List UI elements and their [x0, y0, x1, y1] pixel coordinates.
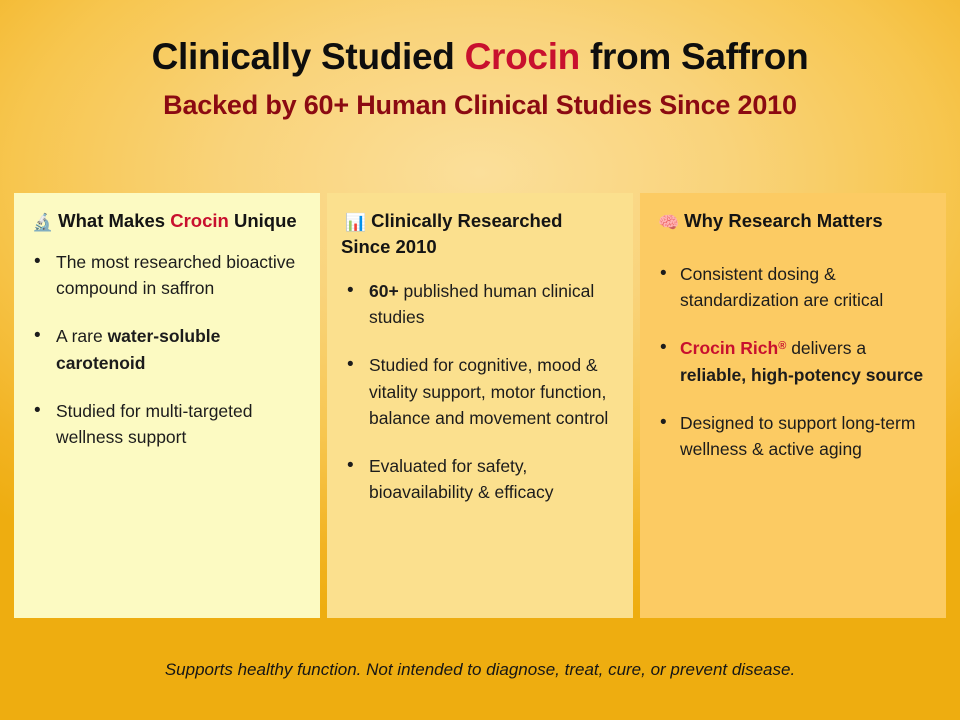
card-3-heading-text: Why Research Matters [684, 210, 882, 231]
title-accent-word: Crocin [465, 36, 580, 77]
card-1-heading-accent: Crocin [170, 210, 229, 231]
bullet-text: The most researched bioactive compound i… [56, 252, 295, 298]
list-item: A rare water-soluble carotenoid [28, 323, 302, 376]
page-subtitle: Backed by 60+ Human Clinical Studies Sin… [0, 89, 960, 121]
title-text-trailing: from Saffron [580, 36, 808, 77]
footer: Supports healthy function. Not intended … [0, 660, 960, 680]
list-item: Designed to support long-term wellness &… [654, 410, 928, 463]
bullet-text: Evaluated for safety, bioavailability & … [369, 456, 554, 502]
card-clinically-researched-since-2010: 📊Clinically Researched Since 2010 60+ pu… [327, 193, 633, 618]
card-1-heading-text-trailing: Unique [229, 210, 297, 231]
card-2-heading: 📊Clinically Researched Since 2010 [341, 209, 615, 260]
list-item: The most researched bioactive compound i… [28, 249, 302, 302]
card-3-heading: 🧠Why Research Matters [654, 209, 928, 235]
bar-chart-icon: 📊 [345, 213, 366, 232]
disclaimer-text: Supports healthy function. Not intended … [0, 660, 960, 680]
bullet-text: Studied for cognitive, mood & vitality s… [369, 355, 608, 428]
list-item: Consistent dosing & standardization are … [654, 261, 928, 314]
card-2-bullet-list: 60+ published human clinical studies Stu… [341, 278, 615, 506]
list-item: 60+ published human clinical studies [341, 278, 615, 331]
card-1-heading-text-leading: What Makes [58, 210, 170, 231]
bullet-text: A rare [56, 326, 108, 346]
bullet-text: Studied for multi-targeted wellness supp… [56, 401, 253, 447]
bullet-text: Designed to support long-term wellness &… [680, 413, 915, 459]
page-title: Clinically Studied Crocin from Saffron [0, 36, 960, 79]
list-item: Evaluated for safety, bioavailability & … [341, 453, 615, 506]
title-text-leading: Clinically Studied [152, 36, 465, 77]
microscope-icon: 🔬 [32, 213, 53, 232]
bullet-text: Consistent dosing & standardization are … [680, 264, 883, 310]
list-item: Studied for cognitive, mood & vitality s… [341, 352, 615, 431]
card-what-makes-crocin-unique: 🔬What Makes Crocin Unique The most resea… [14, 193, 320, 618]
bullet-bold-text: 60+ [369, 281, 399, 301]
infographic-slide: Clinically Studied Crocin from Saffron B… [0, 0, 960, 720]
bullet-text: delivers a [786, 338, 866, 358]
cards-row: 🔬What Makes Crocin Unique The most resea… [14, 193, 946, 618]
card-1-bullet-list: The most researched bioactive compound i… [28, 249, 302, 451]
list-item: Crocin Rich® delivers a reliable, high-p… [654, 335, 928, 388]
bullet-bold-text: reliable, high-potency source [680, 365, 923, 385]
card-2-heading-text: Clinically Researched Since 2010 [341, 210, 562, 257]
bullet-text: published human clinical studies [369, 281, 594, 327]
brain-icon: 🧠 [658, 213, 679, 232]
header: Clinically Studied Crocin from Saffron B… [0, 0, 960, 121]
card-3-bullet-list: Consistent dosing & standardization are … [654, 261, 928, 463]
card-why-research-matters: 🧠Why Research Matters Consistent dosing … [640, 193, 946, 618]
card-1-heading: 🔬What Makes Crocin Unique [28, 209, 302, 235]
list-item: Studied for multi-targeted wellness supp… [28, 398, 302, 451]
brand-name: Crocin Rich [680, 338, 778, 358]
